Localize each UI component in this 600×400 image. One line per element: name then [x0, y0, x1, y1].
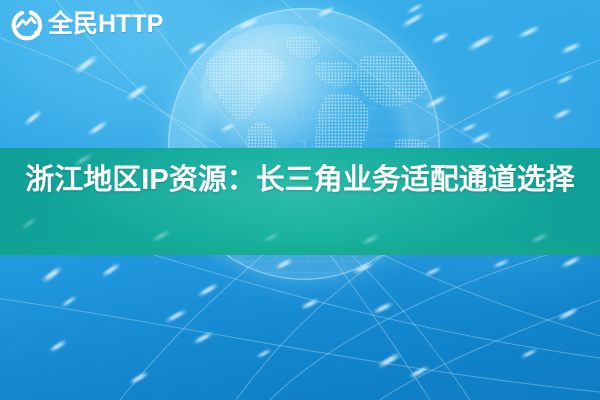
light-streak	[300, 298, 320, 310]
globe-highlight	[201, 24, 370, 155]
light-streak	[467, 33, 496, 51]
light-streak	[556, 74, 573, 85]
light-streak	[21, 217, 38, 230]
page-canvas: 全民HTTP 浙江地区IP资源：长三角业务适配通道选择	[0, 0, 600, 400]
hero-title-banner: 浙江地区IP资源：长三角业务适配通道选择	[0, 148, 600, 255]
light-streak	[41, 265, 63, 283]
light-streak	[401, 12, 426, 28]
light-streak	[560, 255, 582, 268]
light-streak	[517, 25, 540, 39]
light-streak	[186, 41, 207, 55]
light-streak	[274, 258, 294, 271]
light-streak	[87, 120, 109, 137]
light-streak	[424, 266, 442, 276]
circle-q-mountain-logo-icon	[8, 6, 44, 42]
light-streak	[128, 371, 149, 385]
brand-logo[interactable]: 全民HTTP	[8, 6, 163, 42]
banner-bottom-tint	[0, 239, 600, 255]
light-streak	[470, 131, 492, 144]
brand-name: 全民HTTP	[48, 11, 163, 37]
light-streak	[492, 258, 510, 268]
light-streak	[408, 365, 429, 379]
light-streak	[372, 301, 394, 314]
orbit-arc	[380, 300, 600, 400]
light-streak	[493, 88, 513, 100]
light-streak	[556, 307, 579, 322]
light-streak	[220, 123, 236, 133]
light-streak	[164, 309, 187, 324]
light-streak	[197, 282, 220, 297]
light-streak	[424, 95, 447, 110]
light-streak	[256, 348, 272, 358]
light-streak	[101, 262, 121, 278]
light-streak	[125, 83, 149, 102]
light-streak	[192, 331, 213, 345]
light-streak	[406, 3, 423, 14]
light-streak	[460, 122, 478, 132]
light-streak	[376, 352, 401, 369]
page-title: 浙江地区IP资源：长三角业务适配通道选择	[0, 159, 600, 201]
light-streak	[73, 54, 99, 75]
light-streak	[236, 17, 260, 30]
light-streak	[560, 42, 582, 55]
light-streak	[316, 6, 336, 18]
light-streak	[352, 261, 374, 274]
orbit-arc	[0, 296, 600, 392]
light-streak	[61, 295, 78, 308]
light-streak	[520, 348, 537, 359]
light-streak	[552, 108, 572, 120]
orbit-arc	[270, 240, 600, 400]
light-streak	[23, 110, 43, 127]
light-streak	[48, 339, 67, 353]
light-streak	[430, 32, 450, 45]
